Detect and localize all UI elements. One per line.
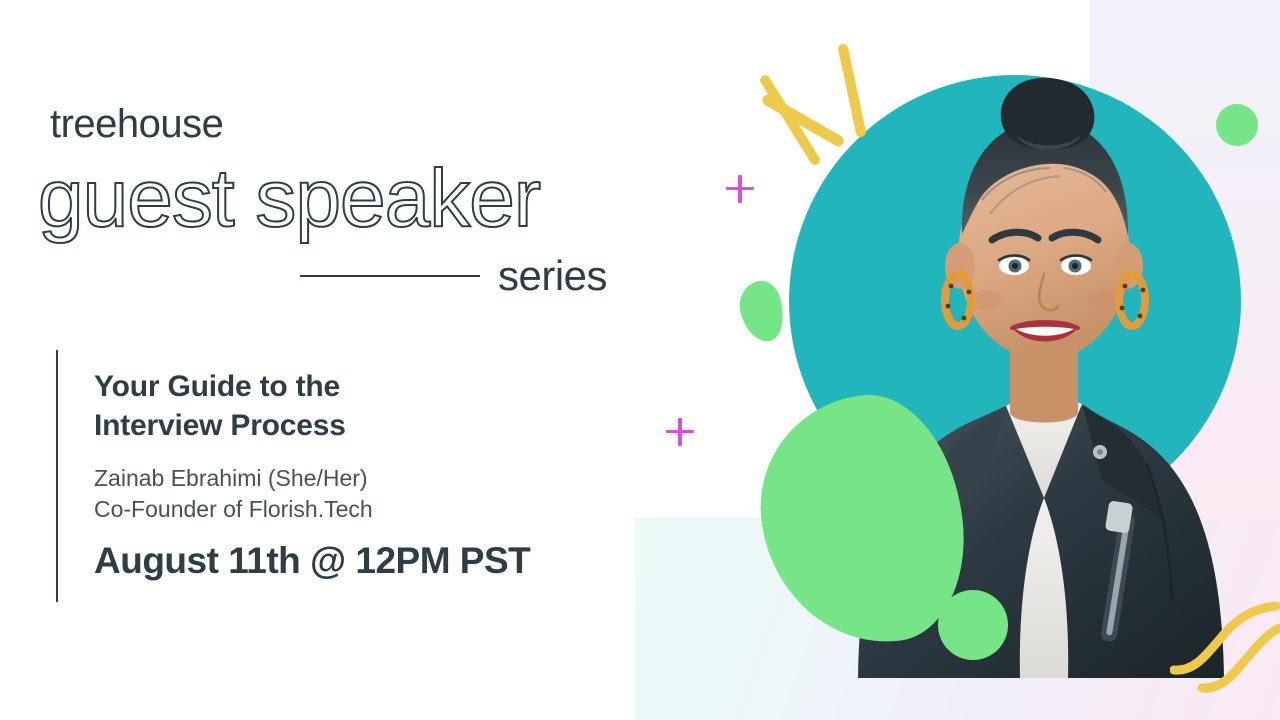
green-organic-blob — [734, 277, 790, 346]
yellow-sparkle-burst — [740, 35, 900, 175]
green-circle-blob — [938, 590, 1008, 660]
series-divider-rule — [300, 275, 480, 277]
event-info-block: Your Guide to the Interview Process Zain… — [56, 350, 656, 602]
event-datetime: August 11th @ 12PM PST — [94, 541, 656, 582]
headline-outline-text: guest speaker — [38, 158, 658, 258]
talk-title: Your Guide to the Interview Process — [94, 367, 454, 445]
brand-wordmark: treehouse — [50, 104, 223, 144]
magenta-plus-middle — [666, 418, 694, 446]
guest-speaker-promo-slide: treehouse guest speaker series Your Guid… — [0, 0, 1280, 720]
magenta-plus-top — [726, 175, 754, 203]
yellow-squiggle-lines — [1170, 580, 1280, 700]
speaker-name: Zainab Ebrahimi (She/Her) — [94, 463, 656, 494]
sparkle-stroke — [837, 43, 867, 138]
series-word: series — [498, 255, 607, 297]
speaker-role: Co-Founder of Florish.Tech — [94, 494, 656, 525]
series-row: series — [300, 255, 630, 297]
